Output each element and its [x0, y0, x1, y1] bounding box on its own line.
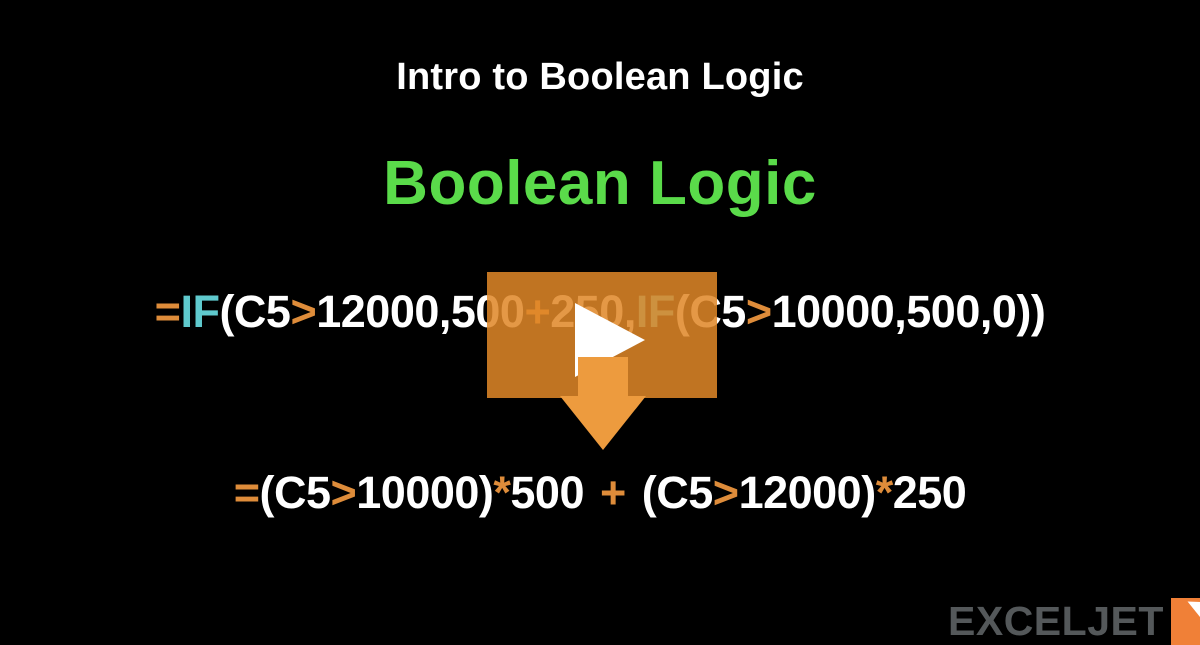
bool-token-gt-1: > [330, 467, 356, 518]
formula-token-args-3: 10000,500,0)) [772, 286, 1046, 337]
arrow-down-icon-head [560, 396, 646, 450]
video-thumbnail-canvas: Intro to Boolean Logic Boolean Logic =IF… [0, 0, 1200, 630]
bool-token-mult-2: * [876, 467, 893, 518]
bool-token-mult-1: * [493, 467, 510, 518]
bool-token-12000: 12000) [739, 467, 876, 518]
bool-token-ref-c5-2: (C5 [642, 467, 713, 518]
bool-token-ref-c5-1: (C5 [259, 467, 330, 518]
bool-token-250: 250 [893, 467, 967, 518]
bool-token-gt-2: > [713, 467, 739, 518]
bool-token-10000: 10000) [356, 467, 493, 518]
bool-token-500: 500 [510, 467, 584, 518]
bool-token-equals: = [234, 467, 260, 518]
boolean-formula-expression: =(C5>10000)*500+(C5>12000)*250 [0, 467, 1200, 519]
exceljet-mark-icon [1171, 598, 1200, 645]
lesson-heading: Boolean Logic [0, 148, 1200, 219]
exceljet-wordmark: EXCELJET [948, 601, 1164, 642]
bool-token-plus: + [600, 467, 626, 518]
formula-token-ref-c5-1: (C5 [219, 286, 290, 337]
formula-token-gt-2: > [746, 286, 772, 337]
formula-token-gt-1: > [290, 286, 316, 337]
exceljet-swoosh-icon [1186, 601, 1200, 632]
formula-token-if-outer: IF [180, 286, 219, 337]
exceljet-logo: EXCELJET [948, 601, 1200, 641]
video-title: Intro to Boolean Logic [0, 56, 1200, 99]
formula-token-equals: = [155, 286, 181, 337]
